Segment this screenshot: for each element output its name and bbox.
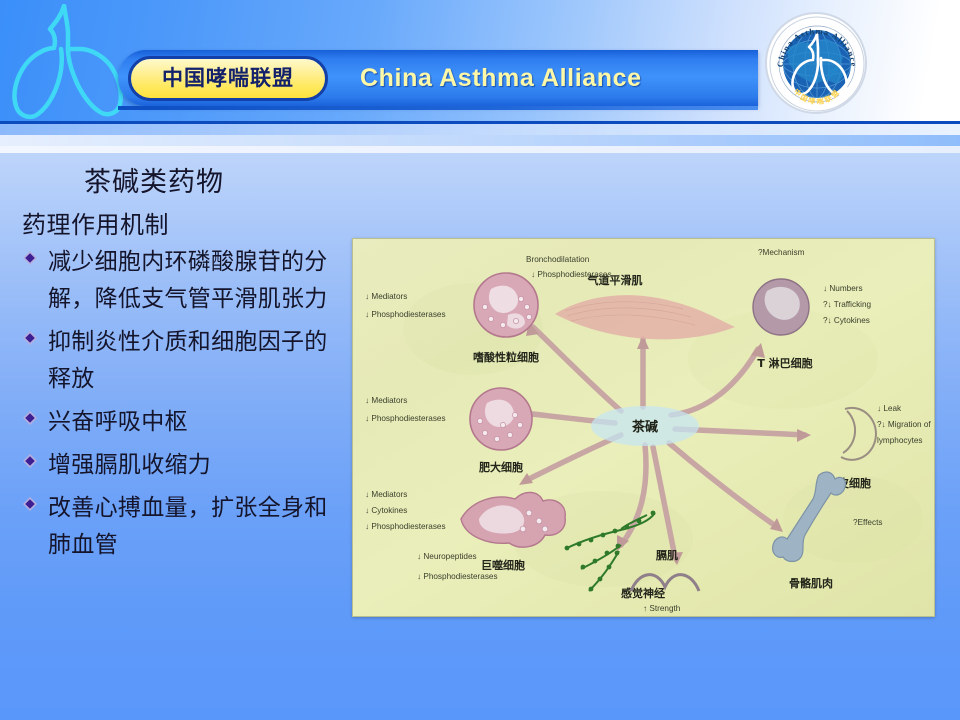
t-lymphocyte-annotation-0: ?Mechanism	[758, 248, 805, 257]
mast-cell-annotation-1: ↓ Phosphodiesterases	[365, 414, 446, 423]
t-lymphocyte-annotation-1: ↓ Numbers	[823, 284, 863, 293]
eosinophil-annotation-1: ↓ Phosphodiesterases	[365, 310, 446, 319]
macrophage-label: 巨噬细胞	[481, 558, 525, 572]
lung-outline-icon	[6, 4, 136, 124]
mechanism-diagram-svg: 茶碱 气道平滑肌 Bronchodilatation ↓ Phosphodies…	[353, 239, 934, 616]
sensory-nerve-label: 感觉神经	[621, 586, 665, 600]
sensory-nerve-annotation-0: ↓ Neuropeptides	[417, 552, 477, 561]
mechanism-diagram-image: 茶碱 气道平滑肌 Bronchodilatation ↓ Phosphodies…	[352, 238, 935, 617]
bullet-list: 减少细胞内环磷酸腺苷的分解，降低支气管平滑肌张力 抑制炎性介质和细胞因子的释放 …	[22, 244, 342, 570]
slide-title: 茶碱类药物	[84, 160, 224, 199]
macrophage-annotation-2: ↓ Phosphodiesterases	[365, 522, 446, 531]
header-stripe-1	[0, 124, 960, 135]
chinese-name-badge: 中国哮喘联盟	[128, 56, 328, 101]
diaphragm-annotation-0: ↑ Strength	[643, 604, 681, 613]
skeletal-muscle-annotation-0: ?Effects	[853, 518, 882, 527]
diamond-bullet-icon	[22, 404, 48, 426]
skeletal-muscle-label: 骨骼肌肉	[789, 576, 833, 590]
bullet-label: 改善心搏血量，扩张全身和肺血管	[48, 490, 342, 564]
diamond-bullet-icon	[22, 447, 48, 469]
list-item: 兴奋呼吸中枢	[22, 404, 342, 441]
header-stripe-3	[0, 146, 960, 153]
list-item: 抑制炎性介质和细胞因子的释放	[22, 324, 342, 398]
header-banner-underline	[118, 106, 758, 110]
airway-smooth-muscle-shape	[555, 295, 735, 339]
mast-cell-label: 肥大细胞	[479, 460, 523, 474]
slide-header: 中国哮喘联盟 China Asthma Alliance	[0, 0, 960, 125]
endothelial-annotation-2: lymphocytes	[877, 436, 923, 445]
t-lymphocyte-annotation-3: ?↓ Cytokines	[823, 316, 870, 325]
bullet-label: 抑制炎性介质和细胞因子的释放	[48, 324, 342, 398]
logo-svg: China Asthma Alliance 中国哮喘联盟	[767, 14, 867, 114]
list-item: 改善心搏血量，扩张全身和肺血管	[22, 490, 342, 564]
endothelial-cell-shape	[841, 408, 876, 460]
t-lymphocyte-annotation-2: ?↓ Trafficking	[823, 300, 872, 309]
slide-canvas: 中国哮喘联盟 China Asthma Alliance	[0, 0, 960, 720]
header-stripe-2	[0, 135, 960, 146]
macrophage-annotation-0: ↓ Mediators	[365, 490, 407, 499]
eosinophil-label: 嗜酸性粒细胞	[473, 350, 539, 364]
t-lymphocyte-label: T 淋巴细胞	[757, 356, 812, 370]
diamond-bullet-icon	[22, 490, 48, 512]
macrophage-annotation-1: ↓ Cytokines	[365, 506, 407, 515]
mast-cell-annotation-0: ↓ Mediators	[365, 396, 407, 405]
endothelial-annotation-1: ?↓ Migration of	[877, 420, 931, 429]
diaphragm-label: 膈肌	[655, 548, 678, 562]
slide-subheading: 药理作用机制	[22, 205, 169, 240]
list-item: 减少细胞内环磷酸腺苷的分解，降低支气管平滑肌张力	[22, 244, 342, 318]
endothelial-annotation-0: ↓ Leak	[877, 404, 902, 413]
airway-annotation-1: ↓ Phosphodiesterases	[531, 270, 612, 279]
bullet-label: 增强膈肌收缩力	[48, 447, 342, 484]
bullet-label: 减少细胞内环磷酸腺苷的分解，降低支气管平滑肌张力	[48, 244, 342, 318]
airway-annotation-0: Bronchodilatation	[526, 255, 590, 264]
diamond-bullet-icon	[22, 324, 48, 346]
english-title: China Asthma Alliance	[360, 64, 642, 93]
chinese-name-badge-label: 中国哮喘联盟	[162, 68, 294, 89]
eosinophil-annotation-0: ↓ Mediators	[365, 292, 407, 301]
list-item: 增强膈肌收缩力	[22, 447, 342, 484]
alliance-logo: China Asthma Alliance 中国哮喘联盟	[765, 12, 867, 114]
diamond-bullet-icon	[22, 244, 48, 266]
bullet-label: 兴奋呼吸中枢	[48, 404, 342, 441]
center-node-label: 茶碱	[632, 419, 658, 435]
sensory-nerve-annotation-1: ↓ Phosphodiesterases	[417, 572, 498, 581]
